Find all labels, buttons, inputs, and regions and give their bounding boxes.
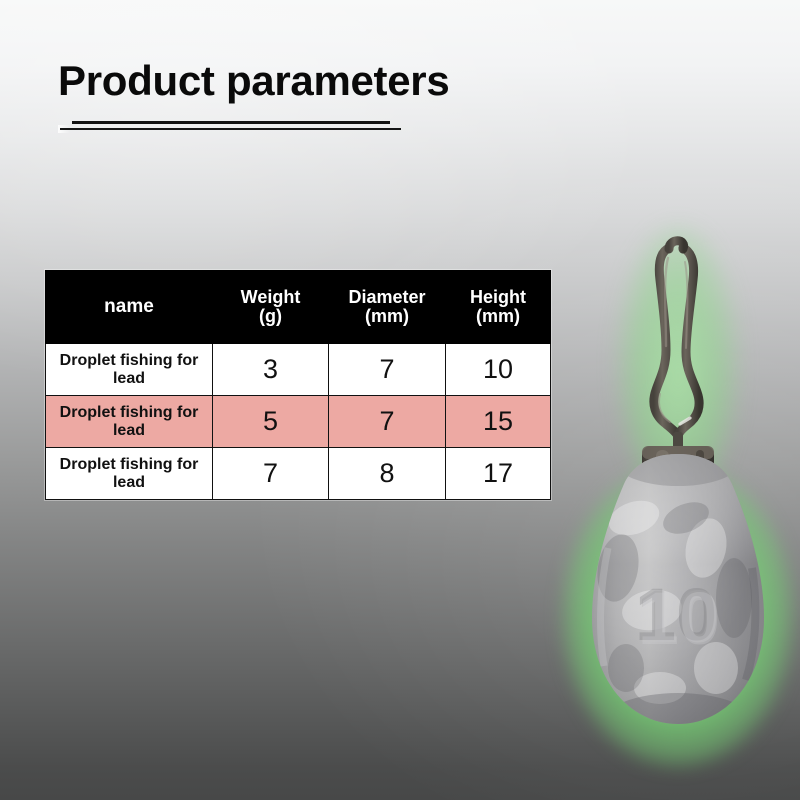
- column-header-height-unit: (mm): [448, 307, 548, 326]
- column-header-height-label: Height: [448, 288, 548, 307]
- product-image: 10 10 10: [556, 218, 800, 764]
- table-header: name Weight (g) Diameter (mm) Height (mm…: [46, 271, 551, 344]
- cell-height: 10: [446, 344, 551, 396]
- cell-weight: 5: [213, 396, 329, 448]
- underline-rule-upper: [72, 121, 390, 124]
- column-header-weight-unit: (g): [215, 307, 326, 326]
- cell-product-name: Droplet fishing for lead: [46, 448, 213, 500]
- column-header-diameter-label: Diameter: [331, 288, 443, 307]
- underline-rule-lower: [60, 128, 401, 130]
- cell-weight: 3: [213, 344, 329, 396]
- column-header-height: Height (mm): [446, 271, 551, 344]
- page-title: Product parameters: [58, 58, 578, 104]
- cell-weight: 7: [213, 448, 329, 500]
- title-underline-decoration: [58, 116, 578, 138]
- table-header-row: name Weight (g) Diameter (mm) Height (mm…: [46, 271, 551, 344]
- cell-product-name: Droplet fishing for lead: [46, 344, 213, 396]
- column-header-diameter-unit: (mm): [331, 307, 443, 326]
- column-header-weight: Weight (g): [213, 271, 329, 344]
- cell-height: 15: [446, 396, 551, 448]
- table-body: Droplet fishing for lead 3 7 10 Droplet …: [46, 344, 551, 500]
- snap-clip-wire: [654, 241, 699, 436]
- title-block: Product parameters: [58, 58, 578, 138]
- svg-text:10: 10: [638, 577, 720, 660]
- column-header-weight-label: Weight: [215, 288, 326, 307]
- cell-diameter: 7: [329, 396, 446, 448]
- parameters-table: name Weight (g) Diameter (mm) Height (mm…: [45, 270, 551, 500]
- column-header-name: name: [46, 271, 213, 344]
- parameters-table-container: name Weight (g) Diameter (mm) Height (mm…: [45, 270, 550, 500]
- lead-sinker-body: 10 10 10: [556, 442, 800, 753]
- table-row: Droplet fishing for lead 3 7 10: [46, 344, 551, 396]
- table-row: Droplet fishing for lead 7 8 17: [46, 448, 551, 500]
- column-header-name-label: name: [104, 296, 154, 317]
- cell-height: 17: [446, 448, 551, 500]
- cell-product-name: Droplet fishing for lead: [46, 396, 213, 448]
- embossed-weight-label: 10 10 10: [635, 573, 720, 660]
- table-row-highlighted: Droplet fishing for lead 5 7 15: [46, 396, 551, 448]
- teardrop-lead-sinker-icon: 10 10 10: [556, 218, 800, 764]
- cell-diameter: 8: [329, 448, 446, 500]
- cell-diameter: 7: [329, 344, 446, 396]
- column-header-diameter: Diameter (mm): [329, 271, 446, 344]
